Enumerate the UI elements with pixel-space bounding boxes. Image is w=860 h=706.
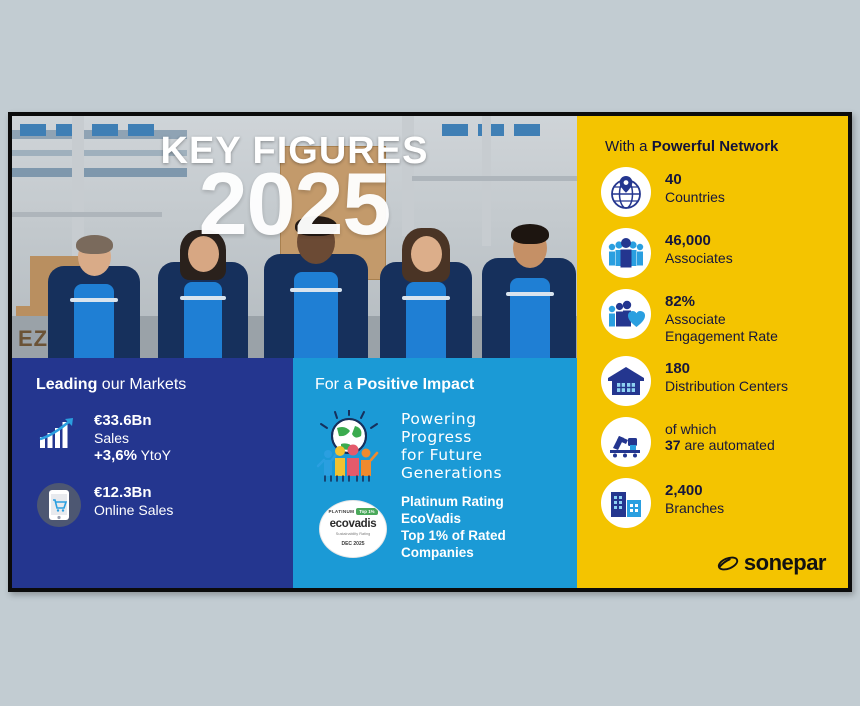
ecovadis-badge-circle: PLATINUM Top 1% ecovadis Sustainability … xyxy=(319,500,387,558)
employee-jacket-inner xyxy=(510,278,550,358)
employee-face xyxy=(188,236,219,272)
screenshot-stage: EZA xyxy=(0,0,860,706)
blue-panel-strip xyxy=(20,124,46,136)
jacket-stripe xyxy=(506,292,554,296)
stat-online-text: €12.3Bn Online Sales xyxy=(94,482,173,519)
ecovadis-badge-top: PLATINUM Top 1% xyxy=(320,506,386,517)
markets-heading-bold: Leading xyxy=(36,376,97,393)
sonepar-wordmark: sonepar xyxy=(744,550,826,576)
stat-dc-text: 180 Distribution Centers xyxy=(665,356,788,395)
ecovadis-rating-line-2: Top 1% of Rated Companies xyxy=(401,528,561,562)
employee-hair xyxy=(511,224,549,244)
impact-heading-light: For a xyxy=(315,376,357,393)
growth-chart-icon xyxy=(36,410,82,456)
branches-label: Branches xyxy=(665,500,724,516)
stat-distribution-centers: 180 Distribution Centers xyxy=(601,356,830,406)
ecovadis-badge: PLATINUM Top 1% ecovadis Sustainability … xyxy=(315,500,389,556)
automated-line: 37 are automated xyxy=(665,437,775,454)
branches-value: 2,400 xyxy=(665,482,724,500)
people-group-icon xyxy=(601,228,651,278)
mobile-shopping-icon xyxy=(37,483,81,527)
dc-label: Distribution Centers xyxy=(665,378,788,394)
online-sales-label: Online Sales xyxy=(94,502,173,519)
markets-heading-rest: our Markets xyxy=(97,376,186,393)
employee-3 xyxy=(264,206,368,358)
left-column: EZA xyxy=(12,116,577,588)
impact-heading-bold: Positive Impact xyxy=(357,376,474,393)
ecovadis-rating-text: Platinum Rating EcoVadis Top 1% of Rated… xyxy=(401,494,561,562)
associates-value: 46,000 xyxy=(665,232,733,250)
ecovadis-date: DEC 2025 xyxy=(320,541,386,547)
sonepar-swoosh-icon xyxy=(717,555,739,572)
tagline-text: Powering Progress for Future Generations xyxy=(401,411,502,483)
mobile-shopping-icon-wrap xyxy=(36,482,82,528)
automated-suffix: are automated xyxy=(681,437,775,453)
ceiling-rail-3 xyxy=(12,168,187,177)
engagement-label-2: Engagement Rate xyxy=(665,328,778,345)
tagline-line-1: Powering xyxy=(401,411,502,429)
stat-engagement-text: 82% Associate Engagement Rate xyxy=(665,289,778,345)
sales-growth-value: +3,6% xyxy=(94,447,137,464)
people-heart-icon xyxy=(601,289,651,339)
blue-panel-strip xyxy=(128,124,154,136)
blue-panel-strip xyxy=(514,124,540,136)
employee-hair xyxy=(295,216,337,236)
network-heading-light: With a xyxy=(605,138,652,155)
jacket-stripe xyxy=(180,296,226,300)
ecovadis-name: ecovadis xyxy=(320,518,386,530)
stat-sales: €33.6Bn Sales +3,6% YtoY xyxy=(36,410,273,466)
stat-automated-text: of which 37 are automated xyxy=(665,417,775,455)
stat-automated: of which 37 are automated xyxy=(601,417,830,467)
employee-face xyxy=(411,236,442,272)
ecovadis-rating-line-1: Platinum Rating EcoVadis xyxy=(401,494,561,528)
associates-label: Associates xyxy=(665,250,733,266)
stat-online-sales: €12.3Bn Online Sales xyxy=(36,482,273,528)
stat-associates-text: 46,000 Associates xyxy=(665,228,733,267)
powering-progress-block: Powering Progress for Future Generations xyxy=(315,410,561,484)
network-heading: With a Powerful Network xyxy=(605,138,830,155)
markets-heading: Leading our Markets xyxy=(36,376,273,394)
impact-heading: For a Positive Impact xyxy=(315,376,561,394)
employee-hair xyxy=(76,235,113,254)
ceiling-rail-2 xyxy=(12,150,187,156)
key-figures-slide: EZA xyxy=(8,112,852,592)
stat-associates: 46,000 Associates xyxy=(601,228,830,278)
bottom-panels-row: Leading our Markets xyxy=(12,358,577,588)
employee-5 xyxy=(482,222,576,358)
sales-label: Sales xyxy=(94,430,171,447)
stat-countries-text: 40 Countries xyxy=(665,167,725,206)
sales-value: €33.6Bn xyxy=(94,412,171,430)
stat-sales-text: €33.6Bn Sales +3,6% YtoY xyxy=(94,410,171,466)
buildings-icon xyxy=(601,478,651,528)
stat-branches: 2,400 Branches xyxy=(601,478,830,528)
employee-jacket-inner xyxy=(294,272,338,358)
stat-countries: 40 Countries xyxy=(601,167,830,217)
employee-1 xyxy=(48,232,140,358)
countries-label: Countries xyxy=(665,189,725,205)
tagline-line-2: Progress xyxy=(401,429,502,447)
tagline-line-3: for Future xyxy=(401,447,502,465)
employee-jacket-inner xyxy=(406,282,446,358)
stat-branches-text: 2,400 Branches xyxy=(665,478,724,517)
employee-jacket-inner xyxy=(184,282,222,358)
employee-group xyxy=(12,198,577,358)
panel-powerful-network: With a Powerful Network 40 xyxy=(577,116,848,588)
employee-4 xyxy=(380,226,472,358)
jacket-stripe xyxy=(70,298,118,302)
engagement-label: Associate xyxy=(665,311,726,327)
globe-pin-icon xyxy=(601,167,651,217)
blue-panel-strip xyxy=(92,124,118,136)
blue-panel-strip xyxy=(442,124,468,136)
engagement-value: 82% xyxy=(665,293,778,311)
automated-value: 37 xyxy=(665,437,681,453)
online-sales-value: €12.3Bn xyxy=(94,484,173,502)
sales-growth-unit: YtoY xyxy=(137,447,171,463)
structural-beam xyxy=(412,176,577,181)
warehouse-icon xyxy=(601,356,651,406)
automated-prefix: of which xyxy=(665,421,775,438)
sales-growth: +3,6% YtoY xyxy=(94,447,171,465)
sonepar-logo: sonepar xyxy=(717,550,826,576)
robot-arm-icon xyxy=(601,417,651,467)
countries-value: 40 xyxy=(665,171,725,189)
employee-2 xyxy=(158,226,248,358)
earth-family-icon xyxy=(315,410,389,484)
hero-photo: EZA xyxy=(12,116,577,358)
panel-leading-markets: Leading our Markets xyxy=(12,358,293,588)
stat-engagement: 82% Associate Engagement Rate xyxy=(601,289,830,345)
tagline-line-4: Generations xyxy=(401,465,502,483)
dc-value: 180 xyxy=(665,360,788,378)
jacket-stripe xyxy=(290,288,342,292)
panel-positive-impact: For a Positive Impact xyxy=(293,358,577,588)
jacket-stripe xyxy=(402,296,450,300)
employee-jacket-inner xyxy=(74,284,114,358)
network-heading-bold: Powerful Network xyxy=(652,138,779,155)
ecovadis-top-label: Top 1% xyxy=(356,508,377,515)
ecovadis-platinum-label: PLATINUM xyxy=(328,509,354,514)
ecovadis-block: PLATINUM Top 1% ecovadis Sustainability … xyxy=(315,494,561,562)
ecovadis-subtitle: Sustainability Rating xyxy=(320,532,386,536)
